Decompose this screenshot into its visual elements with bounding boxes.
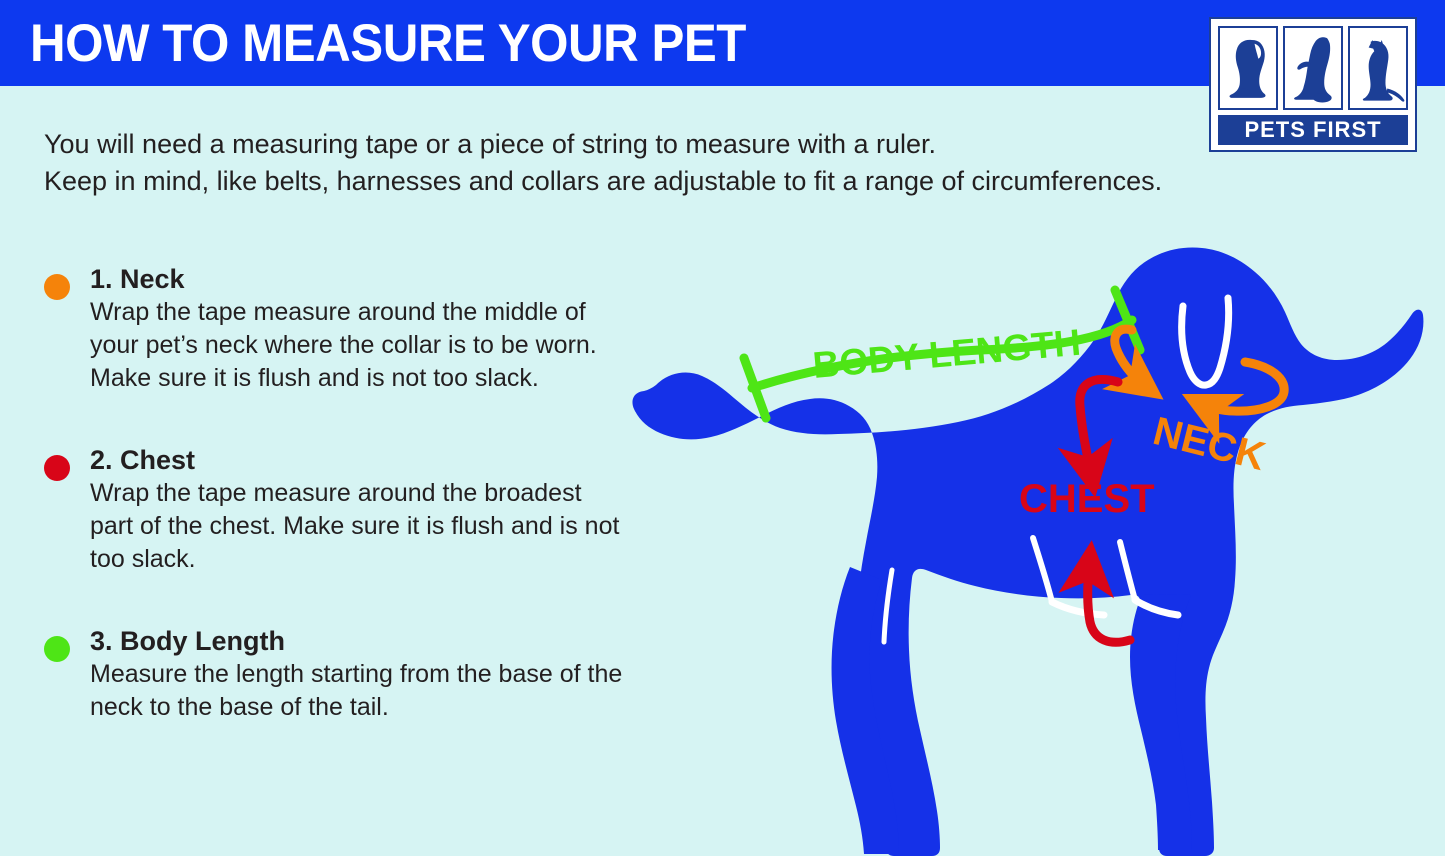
dog-diagram-svg: BODY LENGTH NECK CHEST xyxy=(620,190,1445,856)
intro-line-1: You will need a measuring tape or a piec… xyxy=(44,126,1204,163)
dog-measurement-diagram: BODY LENGTH NECK CHEST xyxy=(620,190,1445,856)
logo-frame-1 xyxy=(1218,26,1278,110)
step-body-body-length-line-2: neck to the base of the tail. xyxy=(90,691,664,724)
logo-frames xyxy=(1218,26,1408,110)
step-body-body-length-line-1: Measure the length starting from the bas… xyxy=(90,658,664,691)
logo-frame-2 xyxy=(1283,26,1343,110)
step-body-neck-line-1: Wrap the tape measure around the middle … xyxy=(90,296,664,329)
step-heading-chest: 2. Chest xyxy=(90,443,664,477)
step-bullet-body-length xyxy=(44,636,70,662)
step-neck: 1. Neck Wrap the tape measure around the… xyxy=(44,262,664,395)
dog-sitting-icon xyxy=(1220,28,1276,108)
step-bullet-chest xyxy=(44,455,70,481)
chest-label: CHEST xyxy=(1019,477,1155,521)
intro-text: You will need a measuring tape or a piec… xyxy=(44,126,1204,200)
logo-wordmark: PETS FIRST xyxy=(1218,115,1408,145)
step-body-body-length: Measure the length starting from the bas… xyxy=(90,658,664,724)
step-body-neck-line-3: Make sure it is flush and is not too sla… xyxy=(90,362,664,395)
step-body-chest-line-2: part of the chest. Make sure it is flush… xyxy=(90,510,664,543)
step-body-chest: Wrap the tape measure around the broades… xyxy=(90,477,664,576)
step-bullet-neck xyxy=(44,274,70,300)
dog-shepherd-sitting-icon xyxy=(1350,28,1406,108)
step-body-length: 3. Body Length Measure the length starti… xyxy=(44,624,664,724)
step-chest: 2. Chest Wrap the tape measure around th… xyxy=(44,443,664,576)
step-body-neck-line-2: your pet’s neck where the collar is to b… xyxy=(90,329,664,362)
step-body-chest-line-3: too slack. xyxy=(90,543,664,576)
step-body-chest-line-1: Wrap the tape measure around the broades… xyxy=(90,477,664,510)
step-heading-neck: 1. Neck xyxy=(90,262,664,296)
brand-logo: PETS FIRST xyxy=(1209,17,1417,152)
page-title: HOW TO MEASURE YOUR PET xyxy=(30,16,746,72)
body-length-label: BODY LENGTH xyxy=(811,322,1082,386)
step-body-neck: Wrap the tape measure around the middle … xyxy=(90,296,664,395)
logo-frame-3 xyxy=(1348,26,1408,110)
logo-wordmark-text: PETS FIRST xyxy=(1244,119,1381,141)
measurement-steps: 1. Neck Wrap the tape measure around the… xyxy=(44,262,664,766)
dog-howling-icon xyxy=(1285,28,1341,108)
step-heading-body-length: 3. Body Length xyxy=(90,624,664,658)
